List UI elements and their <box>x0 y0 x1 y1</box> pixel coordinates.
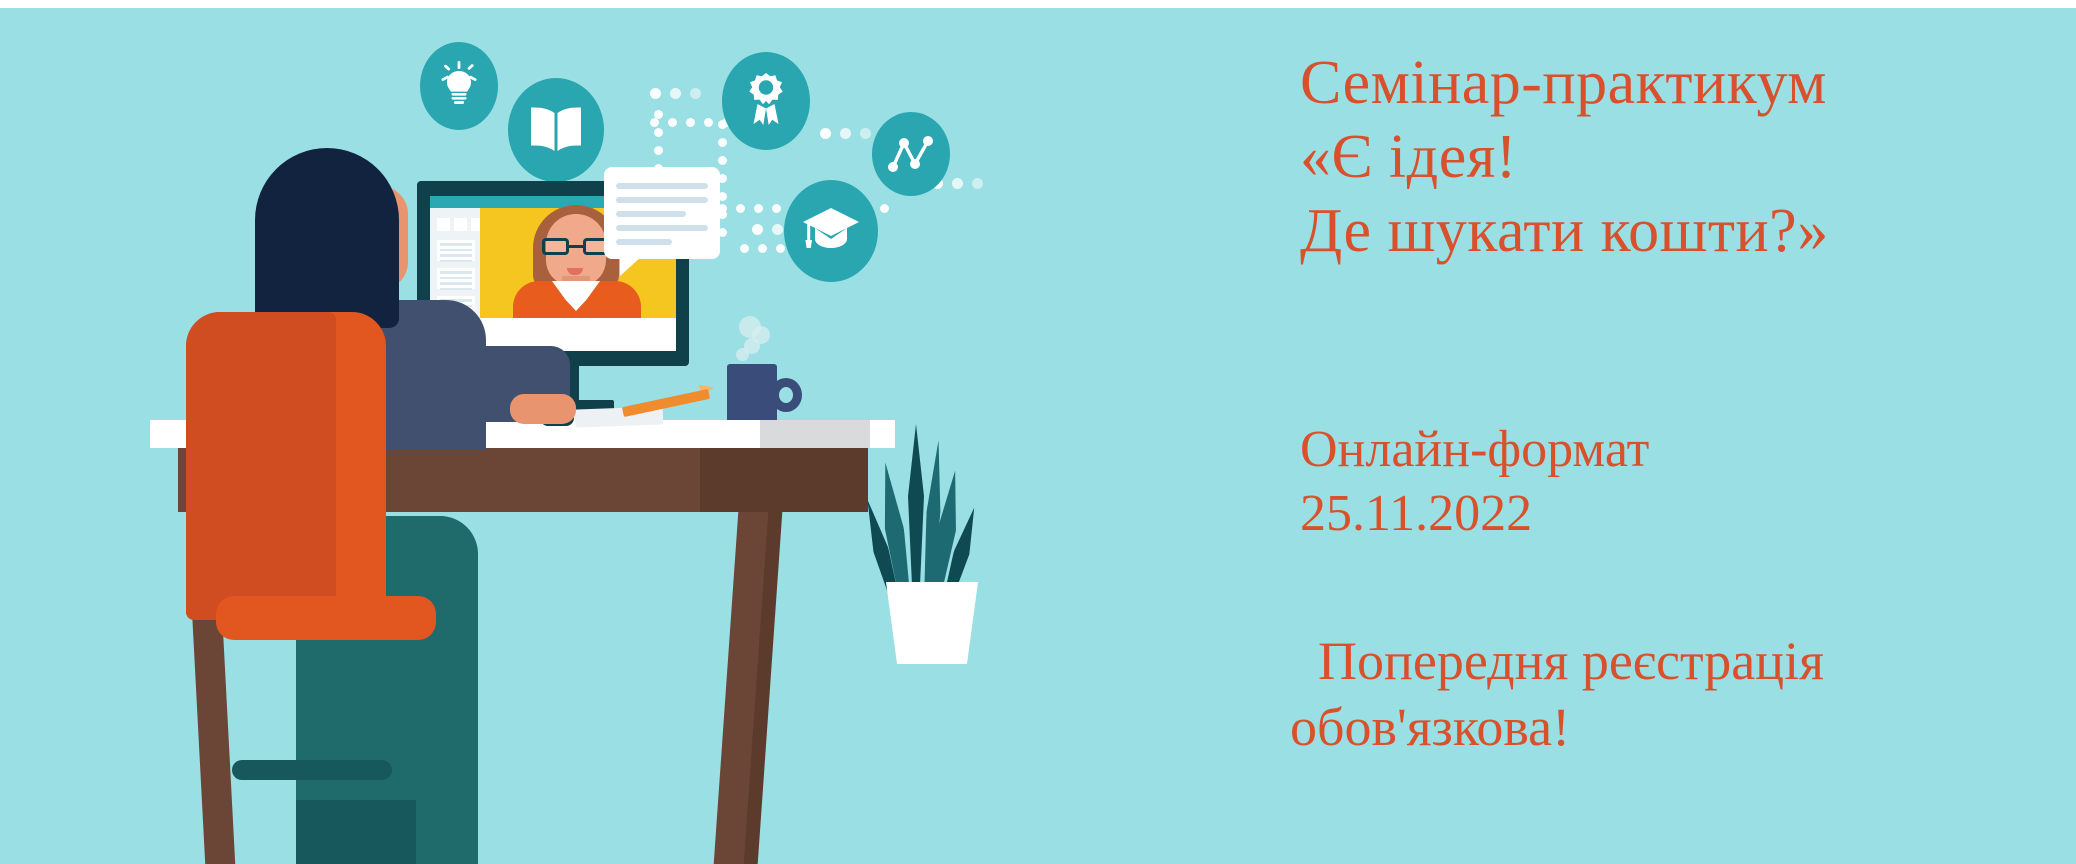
chair-back-shade <box>186 312 336 620</box>
desk-body-shade <box>700 448 868 512</box>
subtitle-date: 25.11.2022 <box>1300 482 1649 546</box>
sidebar-block-2 <box>437 268 475 289</box>
top-white-strip-left <box>0 0 1600 8</box>
chair-base <box>232 760 392 780</box>
pencil <box>622 389 710 417</box>
line-chart-icon <box>872 112 950 196</box>
poster-footer: Попередня реєстрація обов'язкова! <box>1290 628 1824 760</box>
chair-stem <box>296 636 320 766</box>
chair-seat <box>216 596 436 640</box>
footer-line-1: Попередня реєстрація <box>1290 628 1824 694</box>
title-line-2: «Є ідея! <box>1300 120 2060 194</box>
lightbulb-icon <box>420 42 498 130</box>
person-shoe <box>296 800 416 864</box>
desk-top-right <box>760 420 870 448</box>
poster-canvas: Семінар-практикум «Є ідея! Де шукати кош… <box>0 0 2076 864</box>
sidebar-square-1 <box>437 218 450 231</box>
chat-bubble <box>604 167 720 259</box>
title-line-3: Де шукати кошти?» <box>1300 194 2060 268</box>
poster-title: Семінар-практикум «Є ідея! Де шукати кош… <box>1300 46 2060 268</box>
teacher-glasses-icon <box>540 238 612 255</box>
open-book-icon <box>508 78 604 182</box>
sidebar-block-1 <box>437 240 475 261</box>
award-ribbon-icon <box>722 52 810 150</box>
plant-pot <box>886 582 978 664</box>
connector-dots-c <box>650 88 701 99</box>
chat-bubble-tail <box>620 256 642 276</box>
coffee-mug <box>727 364 777 428</box>
footer-line-2: обов'язкова! <box>1290 694 1824 760</box>
steam-4 <box>736 348 749 361</box>
subtitle-format: Онлайн-формат <box>1300 418 1649 482</box>
connector-dots-f <box>820 128 871 139</box>
poster-subtitle: Онлайн-формат 25.11.2022 <box>1300 418 1649 546</box>
title-line-1: Семінар-практикум <box>1300 46 2060 120</box>
plant-leaf-center <box>908 424 924 596</box>
person-hand <box>510 394 576 424</box>
sidebar-square-2 <box>454 218 467 231</box>
graduation-cap-icon <box>784 180 878 282</box>
